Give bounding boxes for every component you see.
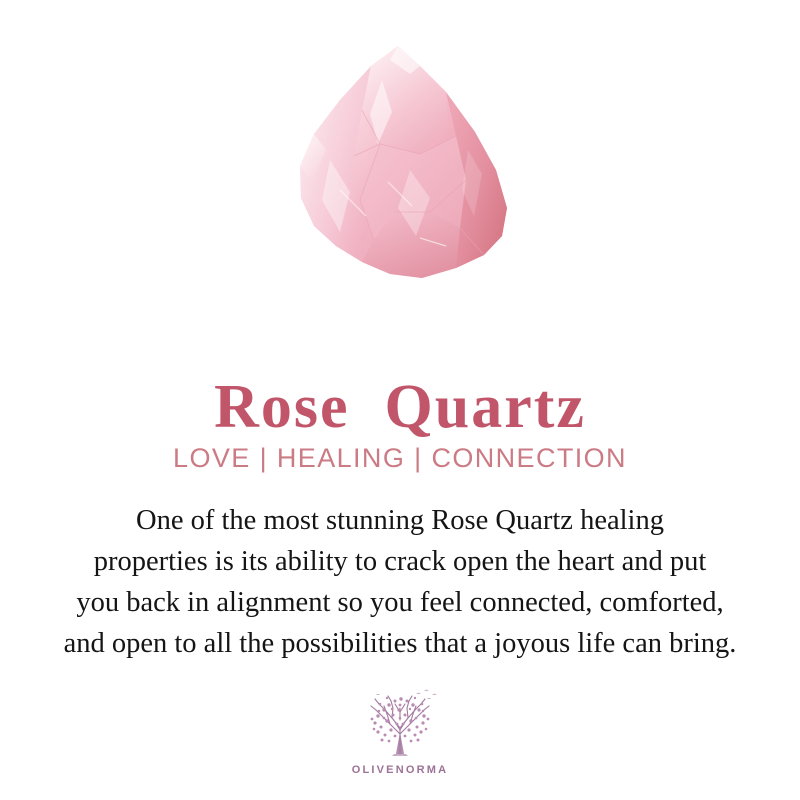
tree-trunk: [396, 732, 404, 754]
rose-quartz-crystal-icon: [270, 40, 530, 290]
tree-birds: [376, 690, 437, 699]
tree-of-life-icon: [354, 686, 446, 762]
product-info-card: Rose Quartz LOVE | HEALING | CONNECTION …: [0, 0, 800, 800]
rose-quartz-crystal-image: [0, 40, 800, 290]
brand-logo[interactable]: OLIVENORMA: [0, 686, 800, 776]
keyword-tagline: LOVE | HEALING | CONNECTION: [0, 445, 800, 472]
description-line: properties is its ability to crack open …: [36, 541, 764, 582]
tree-roots: [392, 754, 408, 756]
brand-name: OLIVENORMA: [352, 764, 449, 776]
description-line: you back in alignment so you feel connec…: [36, 582, 764, 623]
description-line: One of the most stunning Rose Quartz hea…: [36, 500, 764, 541]
description-text: One of the most stunning Rose Quartz hea…: [36, 500, 764, 664]
description-line: and open to all the possibilities that a…: [36, 623, 764, 664]
page-title: Rose Quartz: [0, 376, 800, 438]
